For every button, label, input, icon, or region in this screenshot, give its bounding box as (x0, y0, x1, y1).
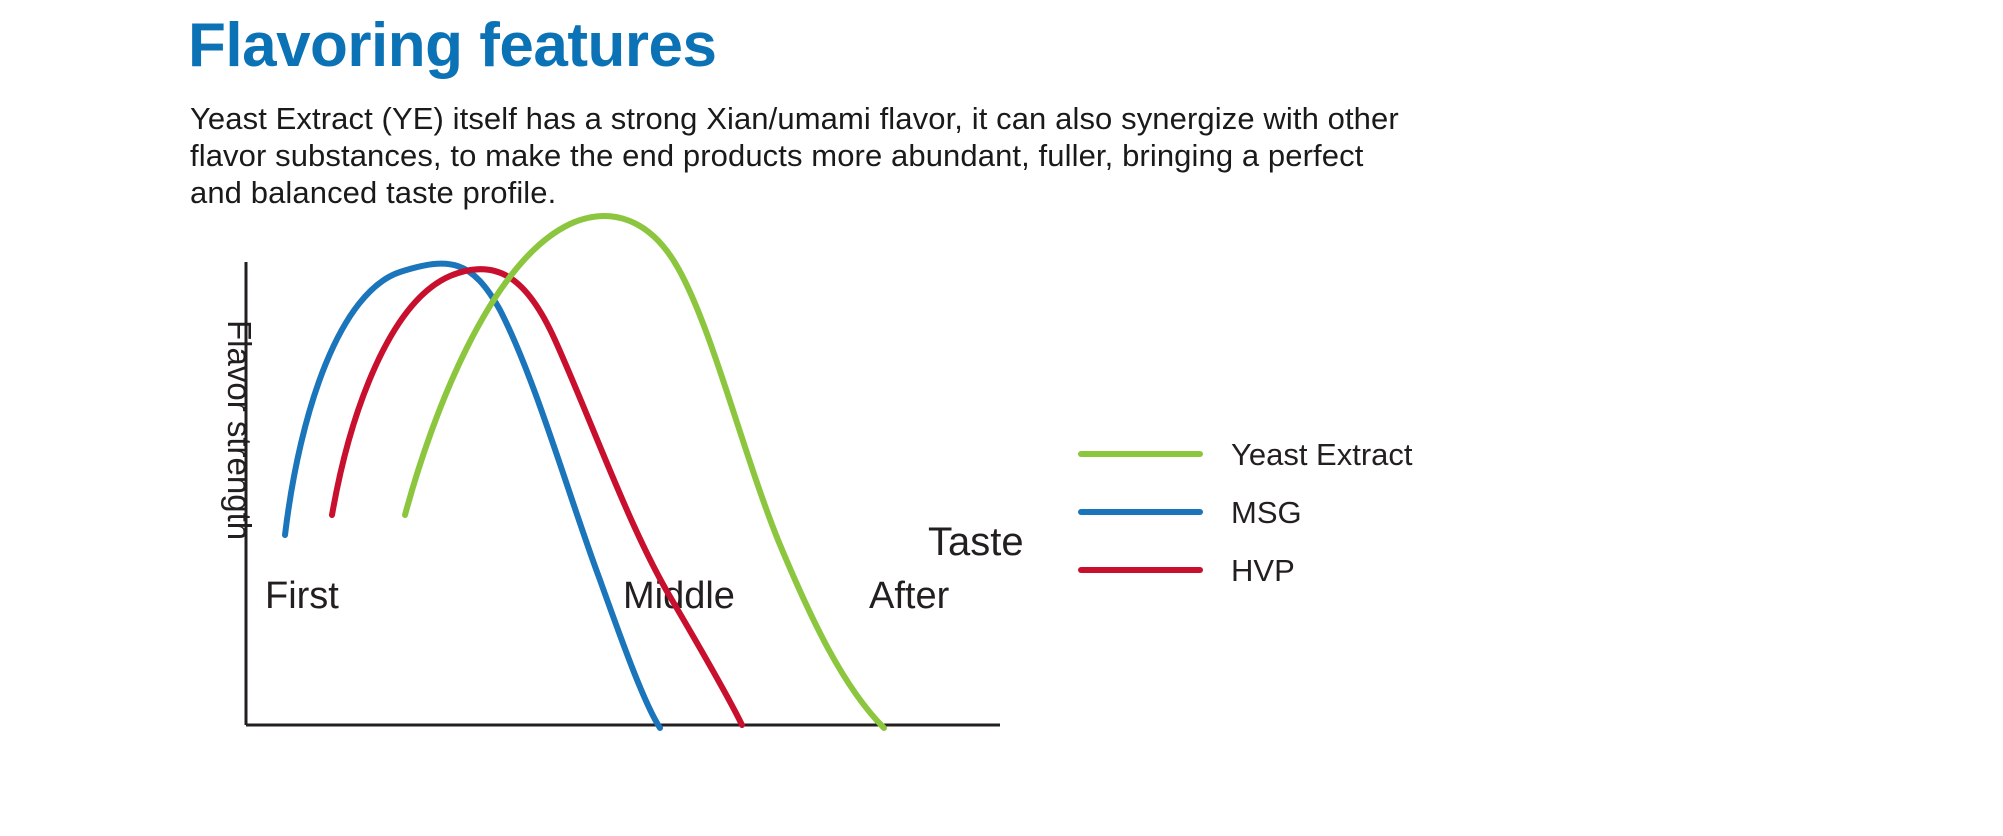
chart-legend: Yeast Extract MSG HVP (1078, 425, 1498, 599)
legend-item-hvp[interactable]: HVP (1078, 541, 1498, 599)
legend-item-msg[interactable]: MSG (1078, 483, 1498, 541)
legend-label-yeast-extract: Yeast Extract (1231, 439, 1413, 470)
legend-swatch-msg (1078, 509, 1203, 515)
intro-paragraph-line-1: Yeast Extract (YE) itself has a strong X… (190, 100, 1370, 137)
legend-item-yeast-extract[interactable]: Yeast Extract (1078, 425, 1498, 483)
series-curve-yeast-extract (405, 216, 884, 728)
series-curve-hvp (332, 269, 742, 725)
y-axis-label: Flavor strength (221, 320, 258, 540)
intro-paragraph: Yeast Extract (YE) itself has a strong X… (190, 100, 1370, 211)
legend-swatch-yeast-extract (1078, 451, 1203, 457)
legend-label-msg: MSG (1231, 497, 1302, 528)
x-tick-label-after: After (869, 575, 950, 617)
legend-label-hvp: HVP (1231, 555, 1295, 586)
x-axis-label: Taste (928, 520, 1024, 564)
legend-swatch-hvp (1078, 567, 1203, 573)
x-tick-label-first: First (265, 575, 339, 617)
page-title: Flavoring features (188, 10, 716, 82)
flavor-strength-chart: Flavor strength Taste First Middle After (0, 200, 2003, 836)
slide-root: Flavoring features Yeast Extract (YE) it… (0, 0, 2003, 836)
intro-paragraph-line-2: flavor substances, to make the end produ… (190, 137, 1370, 174)
